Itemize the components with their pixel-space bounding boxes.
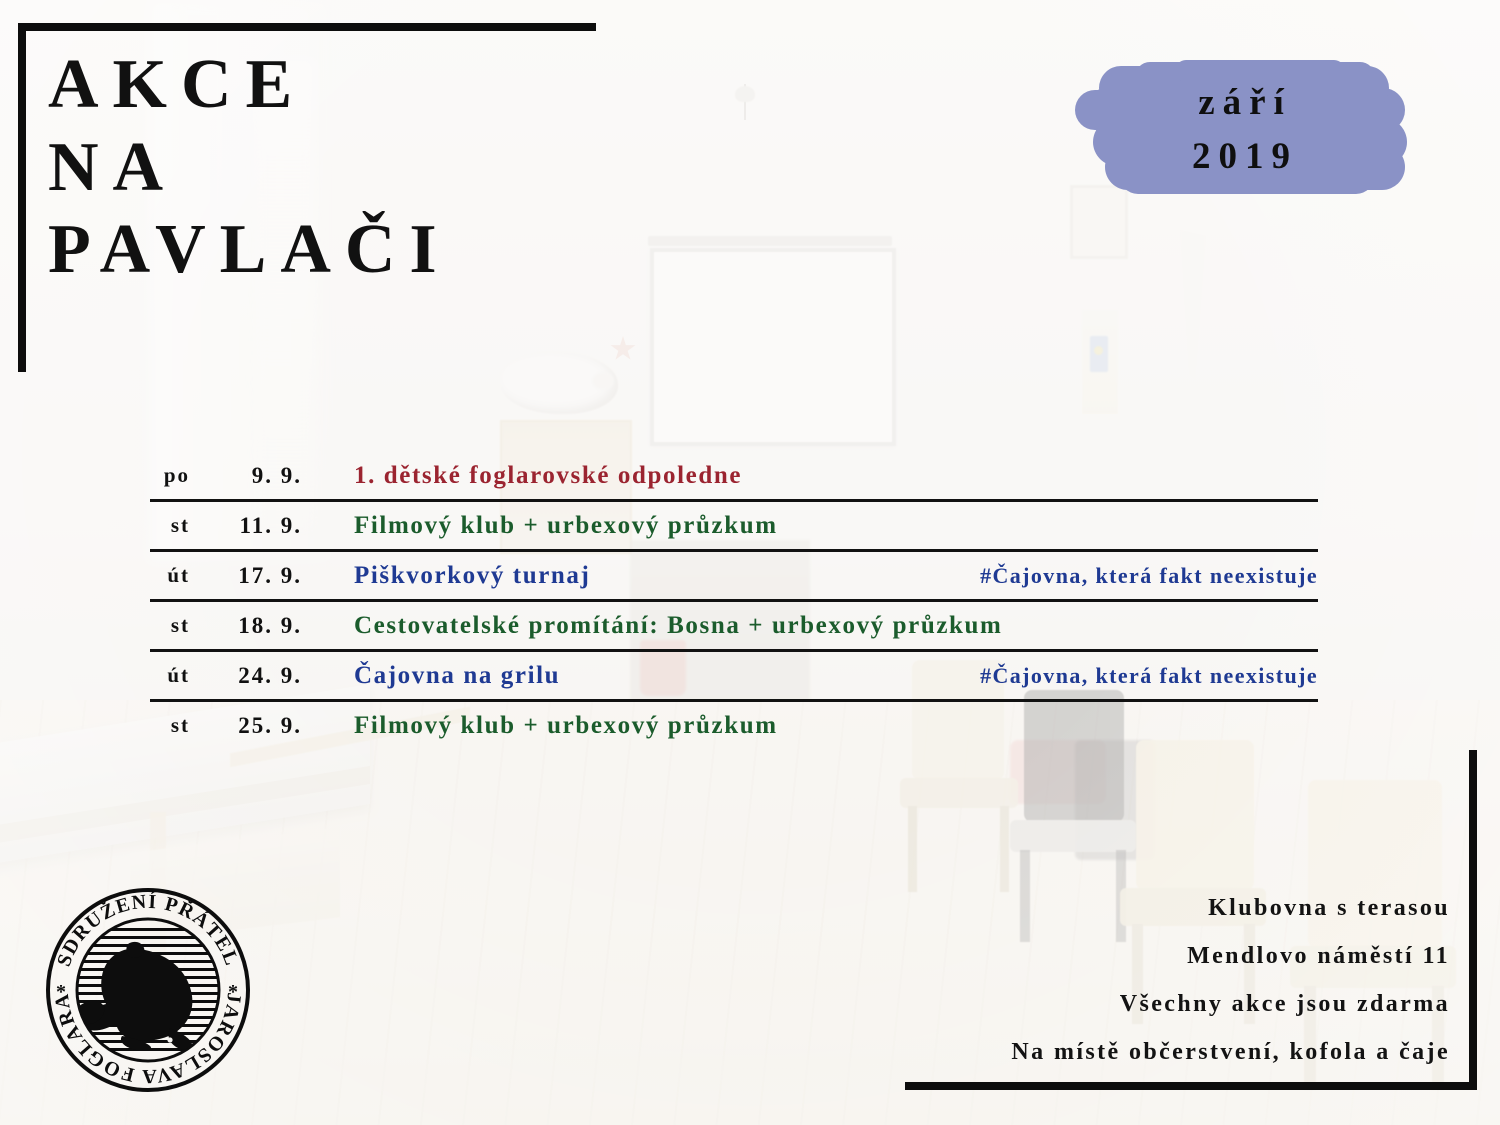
page-title-line-3: PAVLAČI bbox=[48, 209, 668, 292]
row-weekday: st bbox=[150, 513, 190, 538]
table-row: út 17. 9. Piškvorkový turnaj #Čajovna, k… bbox=[150, 552, 1318, 602]
row-weekday: út bbox=[150, 663, 190, 688]
month-badge-text: září 2019 bbox=[1075, 76, 1415, 183]
row-event-tag: #Čajovna, která fakt neexistuje bbox=[834, 663, 1318, 689]
row-event-title: Cestovatelské promítání: Bosna + urbexov… bbox=[310, 612, 1194, 640]
row-weekday: st bbox=[150, 613, 190, 638]
venue-info-line-3: Všechny akce jsou zdarma bbox=[820, 991, 1450, 1018]
table-row: po 9. 9. 1. dětské foglarovské odpoledne bbox=[150, 452, 1318, 502]
table-row: út 24. 9. Čajovna na grilu #Čajovna, kte… bbox=[150, 652, 1318, 702]
row-event-title: Piškvorkový turnaj bbox=[310, 562, 834, 590]
venue-info-line-4: Na místě občerstvení, kofola a čaje bbox=[820, 1039, 1450, 1066]
info-bracket-bottom bbox=[905, 1082, 1477, 1090]
row-date: 17. 9. bbox=[190, 563, 310, 589]
venue-info-line-2: Mendlovo náměstí 11 bbox=[820, 943, 1450, 970]
row-weekday: st bbox=[150, 713, 190, 738]
row-event-title: Filmový klub + urbexový průzkum bbox=[310, 712, 1194, 740]
table-row: st 11. 9. Filmový klub + urbexový průzku… bbox=[150, 502, 1318, 552]
row-date: 18. 9. bbox=[190, 613, 310, 639]
row-weekday: po bbox=[150, 463, 190, 488]
title-bracket-top bbox=[18, 23, 596, 31]
logo-separator-left: * bbox=[56, 981, 66, 1003]
schedule-table: po 9. 9. 1. dětské foglarovské odpoledne… bbox=[150, 452, 1318, 749]
poster-canvas: AKCE NA PAVLAČI září 2019 po 9. 9. bbox=[0, 0, 1500, 1125]
month-badge-year: 2019 bbox=[1075, 130, 1415, 184]
table-row: st 25. 9. Filmový klub + urbexový průzku… bbox=[150, 702, 1318, 749]
title-bracket-left bbox=[18, 23, 26, 372]
month-badge-month: září bbox=[1075, 76, 1415, 130]
row-event-title: Čajovna na grilu bbox=[310, 662, 834, 690]
row-weekday: út bbox=[150, 563, 190, 588]
page-title: AKCE NA PAVLAČI bbox=[48, 44, 668, 292]
info-bracket-right bbox=[1469, 750, 1477, 1090]
venue-info: Klubovna s terasou Mendlovo náměstí 11 V… bbox=[820, 895, 1450, 1066]
row-date: 11. 9. bbox=[190, 513, 310, 539]
row-date: 9. 9. bbox=[190, 463, 310, 489]
page-title-line-1: AKCE bbox=[48, 44, 668, 127]
row-event-title: Filmový klub + urbexový průzkum bbox=[310, 512, 1194, 540]
organization-logo: SDRUŽENÍ PŘÁTEL JAROSLAVA FOGLARA * * bbox=[38, 880, 258, 1100]
venue-info-line-1: Klubovna s terasou bbox=[820, 895, 1450, 922]
month-badge: září 2019 bbox=[1075, 60, 1415, 200]
row-event-tag: #Čajovna, která fakt neexistuje bbox=[834, 563, 1318, 589]
page-title-line-2: NA bbox=[48, 127, 668, 210]
logo-separator-right: * bbox=[228, 981, 238, 1003]
row-event-title: 1. dětské foglarovské odpoledne bbox=[310, 462, 1194, 490]
row-date: 25. 9. bbox=[190, 713, 310, 739]
row-date: 24. 9. bbox=[190, 663, 310, 689]
table-row: st 18. 9. Cestovatelské promítání: Bosna… bbox=[150, 602, 1318, 652]
